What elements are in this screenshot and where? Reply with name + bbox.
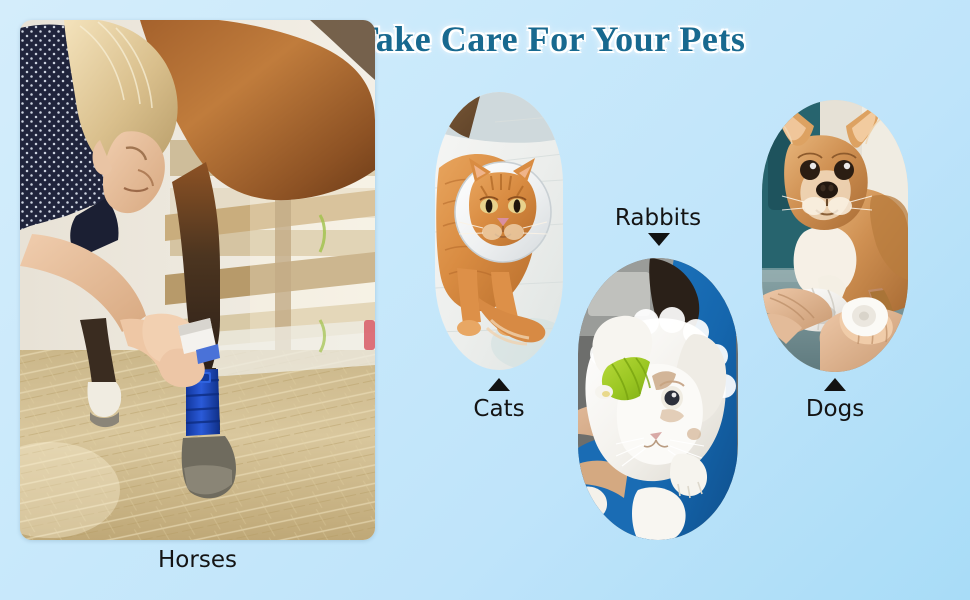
photo-rabbits — [578, 258, 738, 540]
triangle-up-icon-dogs — [824, 378, 846, 391]
horse-illustration — [20, 20, 375, 540]
caption-rabbits: Rabbits — [578, 205, 738, 231]
caption-dogs: Dogs — [762, 396, 908, 422]
dog-illustration — [762, 100, 908, 372]
photo-dogs — [762, 100, 908, 372]
caption-cats: Cats — [435, 396, 563, 422]
rabbit-illustration — [578, 258, 738, 540]
pet-care-banner: Take Care For Your Pets — [0, 0, 970, 600]
caption-horses: Horses — [20, 547, 375, 573]
triangle-up-icon-cats — [488, 378, 510, 391]
triangle-down-icon-rabbits — [648, 233, 670, 246]
photo-horses — [20, 20, 375, 540]
photo-cats — [435, 92, 563, 370]
cat-illustration — [435, 92, 563, 370]
